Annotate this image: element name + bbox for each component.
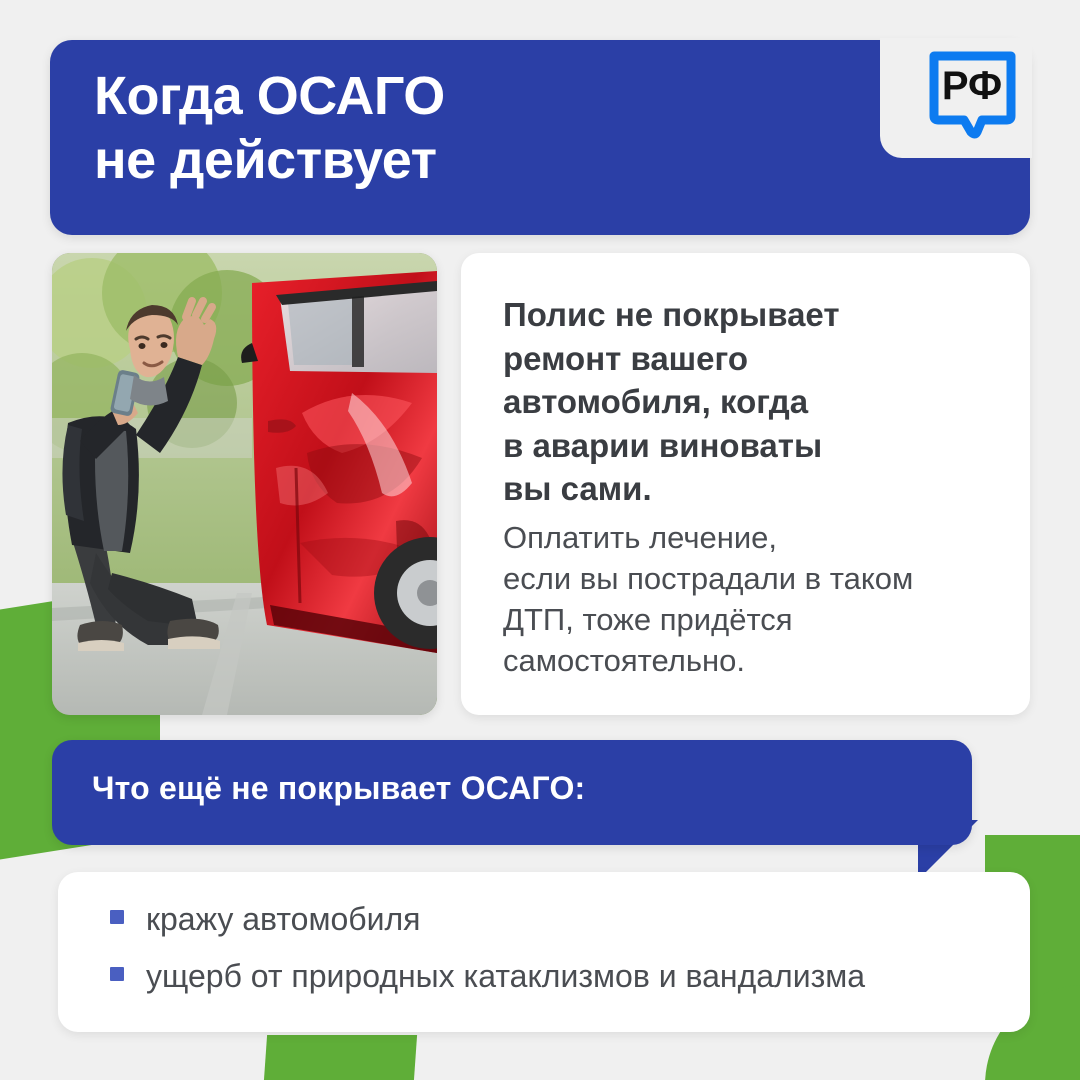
header-banner: Когда ОСАГО не действует — [50, 40, 1030, 235]
page-title: Когда ОСАГО не действует — [94, 65, 794, 192]
list-item-label: ущерб от природных катаклизмов и вандали… — [146, 959, 865, 994]
accident-photo — [52, 253, 437, 715]
bullet-square-icon — [110, 910, 124, 924]
section-banner: Что ещё не покрывает ОСАГО: — [52, 740, 972, 845]
green-decor-bottom-strip — [263, 1035, 417, 1080]
info-card-strong-text: Полис не покрывает ремонт вашего автомоб… — [503, 293, 990, 511]
bullet-square-icon — [110, 967, 124, 981]
infographic-poster: Когда ОСАГО не действует РФ — [0, 0, 1080, 1080]
list-item: кражу автомобиля — [110, 902, 990, 937]
section-banner-title: Что ещё не покрывает ОСАГО: — [92, 770, 585, 807]
svg-text:РФ: РФ — [942, 64, 1002, 108]
list-item-label: кражу автомобиля — [146, 902, 420, 937]
list-item: ущерб от природных катаклизмов и вандали… — [110, 959, 990, 994]
info-card-regular-text: Оплатить лечение, если вы пострадали в т… — [503, 517, 990, 682]
exclusions-list-card: кражу автомобиля ущерб от природных ката… — [58, 872, 1030, 1032]
rf-logo[interactable]: РФ — [920, 42, 1025, 147]
info-card: Полис не покрывает ремонт вашего автомоб… — [461, 253, 1030, 715]
